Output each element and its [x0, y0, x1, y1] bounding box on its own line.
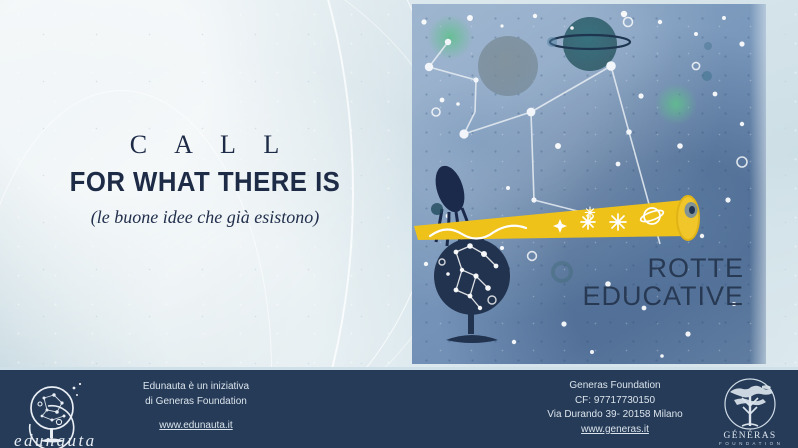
edunauta-wordmark: edunauta	[14, 431, 94, 448]
edunauta-logo: edunauta	[14, 374, 94, 448]
planet-green-small	[427, 14, 473, 60]
generas-link[interactable]: www.generas.it	[581, 424, 649, 435]
footer-bar: edunauta Edunauta è un iniziativa di Gen…	[0, 370, 798, 448]
footer-top-rule	[0, 367, 798, 370]
headline-main: FOR WHAT THERE IS	[16, 166, 393, 198]
headline-call: C A L L	[10, 130, 410, 160]
footer-left-line2: di Generas Foundation	[96, 395, 296, 410]
world-map-canopy	[730, 385, 773, 405]
planet-grey	[478, 36, 538, 96]
generas-wordmark-sub: F O U N D A T I O N	[719, 441, 781, 446]
edunauta-link[interactable]: www.edunauta.it	[159, 419, 232, 434]
generas-wordmark: GÉNÉRAS	[724, 429, 777, 441]
illustration-panel: ROTTE EDUCATIVE	[412, 4, 766, 364]
footer-right-line1: Generas Foundation	[515, 379, 715, 394]
ring-accent	[553, 263, 571, 281]
headline-subtitle: (le buone idee che già esistono)	[0, 207, 410, 228]
illustration-title-line1: ROTTE	[582, 254, 744, 282]
slide-root: C A L L FOR WHAT THERE IS (le buone idee…	[0, 0, 798, 448]
panel-right-fade	[750, 4, 766, 364]
generas-logo: GÉNÉRAS F O U N D A T I O N	[714, 374, 786, 446]
footer-right-line3: Via Durando 39- 20158 Milano	[515, 408, 715, 423]
footer-left-text: Edunauta è un iniziativa di Generas Foun…	[96, 380, 296, 434]
headline-block: C A L L FOR WHAT THERE IS (le buone idee…	[0, 130, 410, 228]
globe-with-face	[434, 228, 510, 343]
planet-green-large	[655, 83, 697, 125]
footer-right-text: Generas Foundation CF: 97717730150 Via D…	[515, 379, 715, 437]
footer-left-line1: Edunauta è un iniziativa	[96, 380, 296, 395]
footer-right-line2: CF: 97717730150	[515, 394, 715, 409]
illustration-title: ROTTE EDUCATIVE	[582, 254, 744, 311]
illustration-title-line2: EDUCATIVE	[582, 282, 744, 310]
